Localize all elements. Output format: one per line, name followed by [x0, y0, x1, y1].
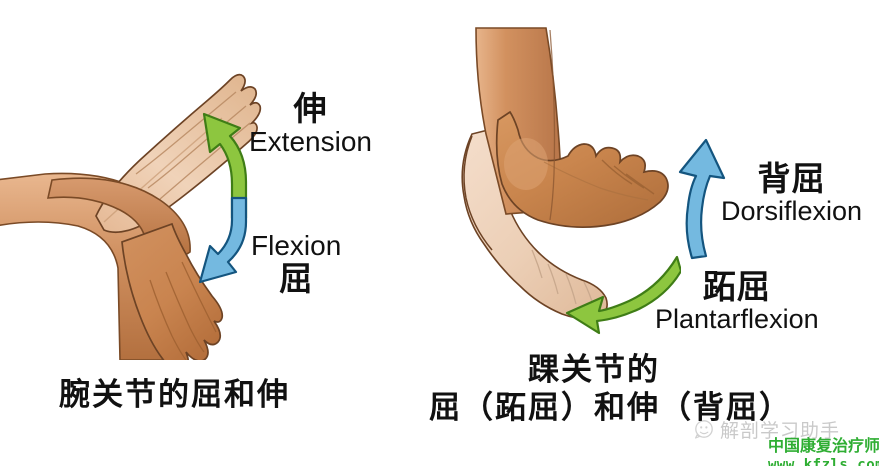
flexion-label-en: Flexion — [251, 232, 341, 261]
dorsiflexion-label-cn: 背屈 — [721, 162, 862, 196]
dorsiflexion-label: 背屈 Dorsiflexion — [721, 162, 862, 225]
watermark-url[interactable]: www.kfzls.com — [768, 457, 876, 466]
flexion-label-cn: 屈 — [251, 262, 341, 296]
extension-label-cn: 伸 — [249, 92, 372, 126]
watermark-org-block: 中国康复治疗师 www.kfzls.com — [768, 432, 876, 466]
plantarflexion-label: 跖屈 Plantarflexion — [655, 270, 819, 333]
plantarflexion-label-en: Plantarflexion — [655, 306, 819, 334]
wrist-caption-text: 腕关节的屈和伸 — [59, 377, 290, 413]
extension-label-en: Extension — [249, 128, 372, 157]
flexion-label: Flexion 屈 — [251, 232, 341, 295]
watermark-organization: 中国康复治疗师 — [768, 432, 876, 456]
watermark: 解剖学习助手 中国康复治疗师 www.kfzls.com — [694, 414, 876, 464]
plantarflexion-label-cn: 跖屈 — [655, 270, 819, 304]
illustration-root: 伸 Extension Flexion 屈 腕关节的屈和伸 — [0, 0, 879, 466]
wechat-icon — [694, 419, 716, 441]
dorsiflexion-label-en: Dorsiflexion — [721, 198, 862, 226]
wrist-caption: 腕关节的屈和伸 — [59, 380, 290, 412]
extension-label: 伸 Extension — [249, 92, 372, 156]
ankle-caption-line1: 踝关节的 — [429, 352, 759, 390]
